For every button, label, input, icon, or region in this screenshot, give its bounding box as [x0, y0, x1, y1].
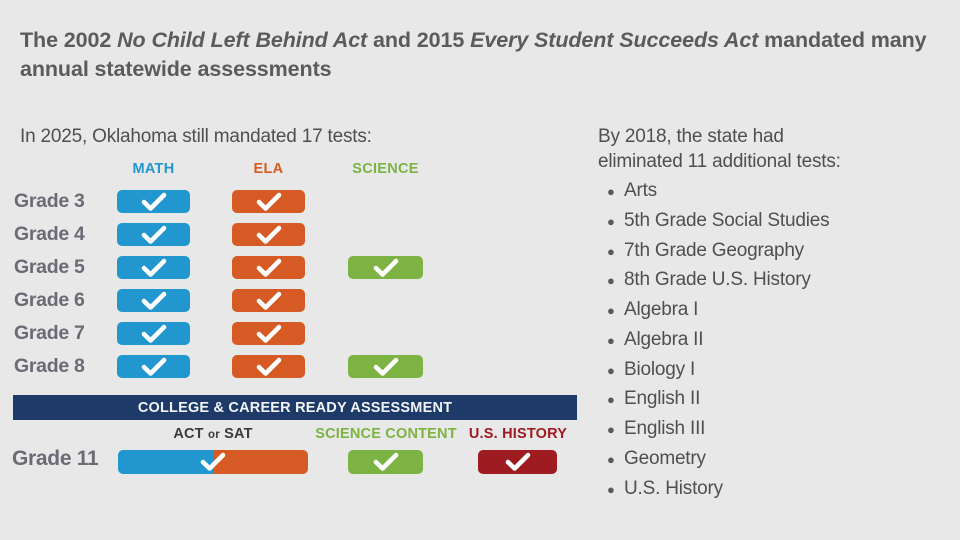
bullet-icon: ●	[598, 420, 624, 440]
checkmark-badge-ela	[232, 190, 305, 213]
list-item: ●English II	[598, 384, 950, 414]
column-header-science: SCIENCE	[348, 161, 423, 177]
list-item: ●English III	[598, 414, 950, 444]
ccra-banner-label: COLLEGE & CAREER READY ASSESSMENT	[138, 400, 452, 416]
bullet-icon: ●	[598, 182, 624, 202]
list-item: ●Algebra II	[598, 325, 950, 355]
checkmark-badge-act-or-sat	[118, 450, 308, 474]
act-label-sat: SAT	[220, 426, 253, 442]
checkmark-badge-science	[348, 355, 423, 378]
checkmark-badge-ela	[232, 289, 305, 312]
list-item-label: Biology I	[624, 355, 695, 385]
checkmark-badge-ela	[232, 355, 305, 378]
bullet-icon: ●	[598, 480, 624, 500]
eliminated-heading-line-1: By 2018, the state had	[598, 124, 950, 149]
list-item: ●Geometry	[598, 444, 950, 474]
column-header-math: MATH	[117, 161, 190, 177]
checkmark-badge-math	[117, 256, 190, 279]
grade-label-11: Grade 11	[12, 447, 116, 471]
checkmark-badge-ela	[232, 223, 305, 246]
checkmark-badge-ela	[232, 256, 305, 279]
eliminated-tests-list: ●Arts ●5th Grade Social Studies ●7th Gra…	[598, 176, 950, 503]
grade-label: Grade 7	[14, 322, 112, 345]
checkmark-badge-us-history	[478, 450, 557, 474]
list-item-label: U.S. History	[624, 474, 723, 504]
list-item: ●7th Grade Geography	[598, 236, 950, 266]
list-item: ●8th Grade U.S. History	[598, 265, 950, 295]
list-item: ●5th Grade Social Studies	[598, 206, 950, 236]
bullet-icon: ●	[598, 271, 624, 291]
checkmark-badge-math	[117, 223, 190, 246]
list-item: ●Arts	[598, 176, 950, 206]
checkmark-badge-math	[117, 190, 190, 213]
title-act-essa: Every Student Succeeds Act	[470, 28, 758, 52]
grade-label: Grade 8	[14, 355, 112, 378]
list-item-label: Arts	[624, 176, 657, 206]
list-item: ●Biology I	[598, 355, 950, 385]
left-subtitle: In 2025, Oklahoma still mandated 17 test…	[20, 126, 372, 148]
bullet-icon: ●	[598, 331, 624, 351]
page-title: The 2002 No Child Left Behind Act and 20…	[20, 26, 935, 83]
checkmark-badge-science-content	[348, 450, 423, 474]
bullet-icon: ●	[598, 301, 624, 321]
list-item-label: Algebra II	[624, 325, 703, 355]
list-item-label: 8th Grade U.S. History	[624, 265, 811, 295]
column-header-ela: ELA	[232, 161, 305, 177]
list-item: ●U.S. History	[598, 474, 950, 504]
bullet-icon: ●	[598, 390, 624, 410]
column-header-science-content: SCIENCE CONTENT	[310, 426, 462, 442]
ccra-banner: COLLEGE & CAREER READY ASSESSMENT	[13, 395, 577, 420]
list-item-label: English II	[624, 384, 700, 414]
list-item-label: English III	[624, 414, 705, 444]
grade-label: Grade 3	[14, 190, 112, 213]
bullet-icon: ●	[598, 361, 624, 381]
list-item: ●Algebra I	[598, 295, 950, 325]
list-item-label: Geometry	[624, 444, 706, 474]
slide-canvas: The 2002 No Child Left Behind Act and 20…	[0, 0, 960, 540]
checkmark-badge-math	[117, 289, 190, 312]
act-label-main: ACT	[173, 426, 208, 442]
act-label-or: or	[208, 429, 220, 441]
title-act-nclb: No Child Left Behind Act	[117, 28, 367, 52]
title-text-1: The 2002	[20, 28, 117, 52]
title-text-2: and 2015	[367, 28, 470, 52]
list-item-label: 7th Grade Geography	[624, 236, 804, 266]
column-header-act-or-sat: ACT or SAT	[118, 426, 308, 442]
checkmark-badge-math	[117, 322, 190, 345]
column-header-us-history: U.S. HISTORY	[466, 426, 570, 442]
checkmark-badge-science	[348, 256, 423, 279]
bullet-icon: ●	[598, 212, 624, 232]
eliminated-tests-panel: By 2018, the state had eliminated 11 add…	[598, 124, 950, 503]
list-item-label: Algebra I	[624, 295, 698, 325]
list-item-label: 5th Grade Social Studies	[624, 206, 829, 236]
grade-label: Grade 5	[14, 256, 112, 279]
eliminated-heading-line-2: eliminated 11 additional tests:	[598, 149, 950, 174]
grade-label: Grade 6	[14, 289, 112, 312]
bullet-icon: ●	[598, 450, 624, 470]
bullet-icon: ●	[598, 242, 624, 262]
checkmark-badge-math	[117, 355, 190, 378]
grade-label: Grade 4	[14, 223, 112, 246]
checkmark-badge-ela	[232, 322, 305, 345]
eliminated-tests-heading: By 2018, the state had eliminated 11 add…	[598, 124, 950, 174]
